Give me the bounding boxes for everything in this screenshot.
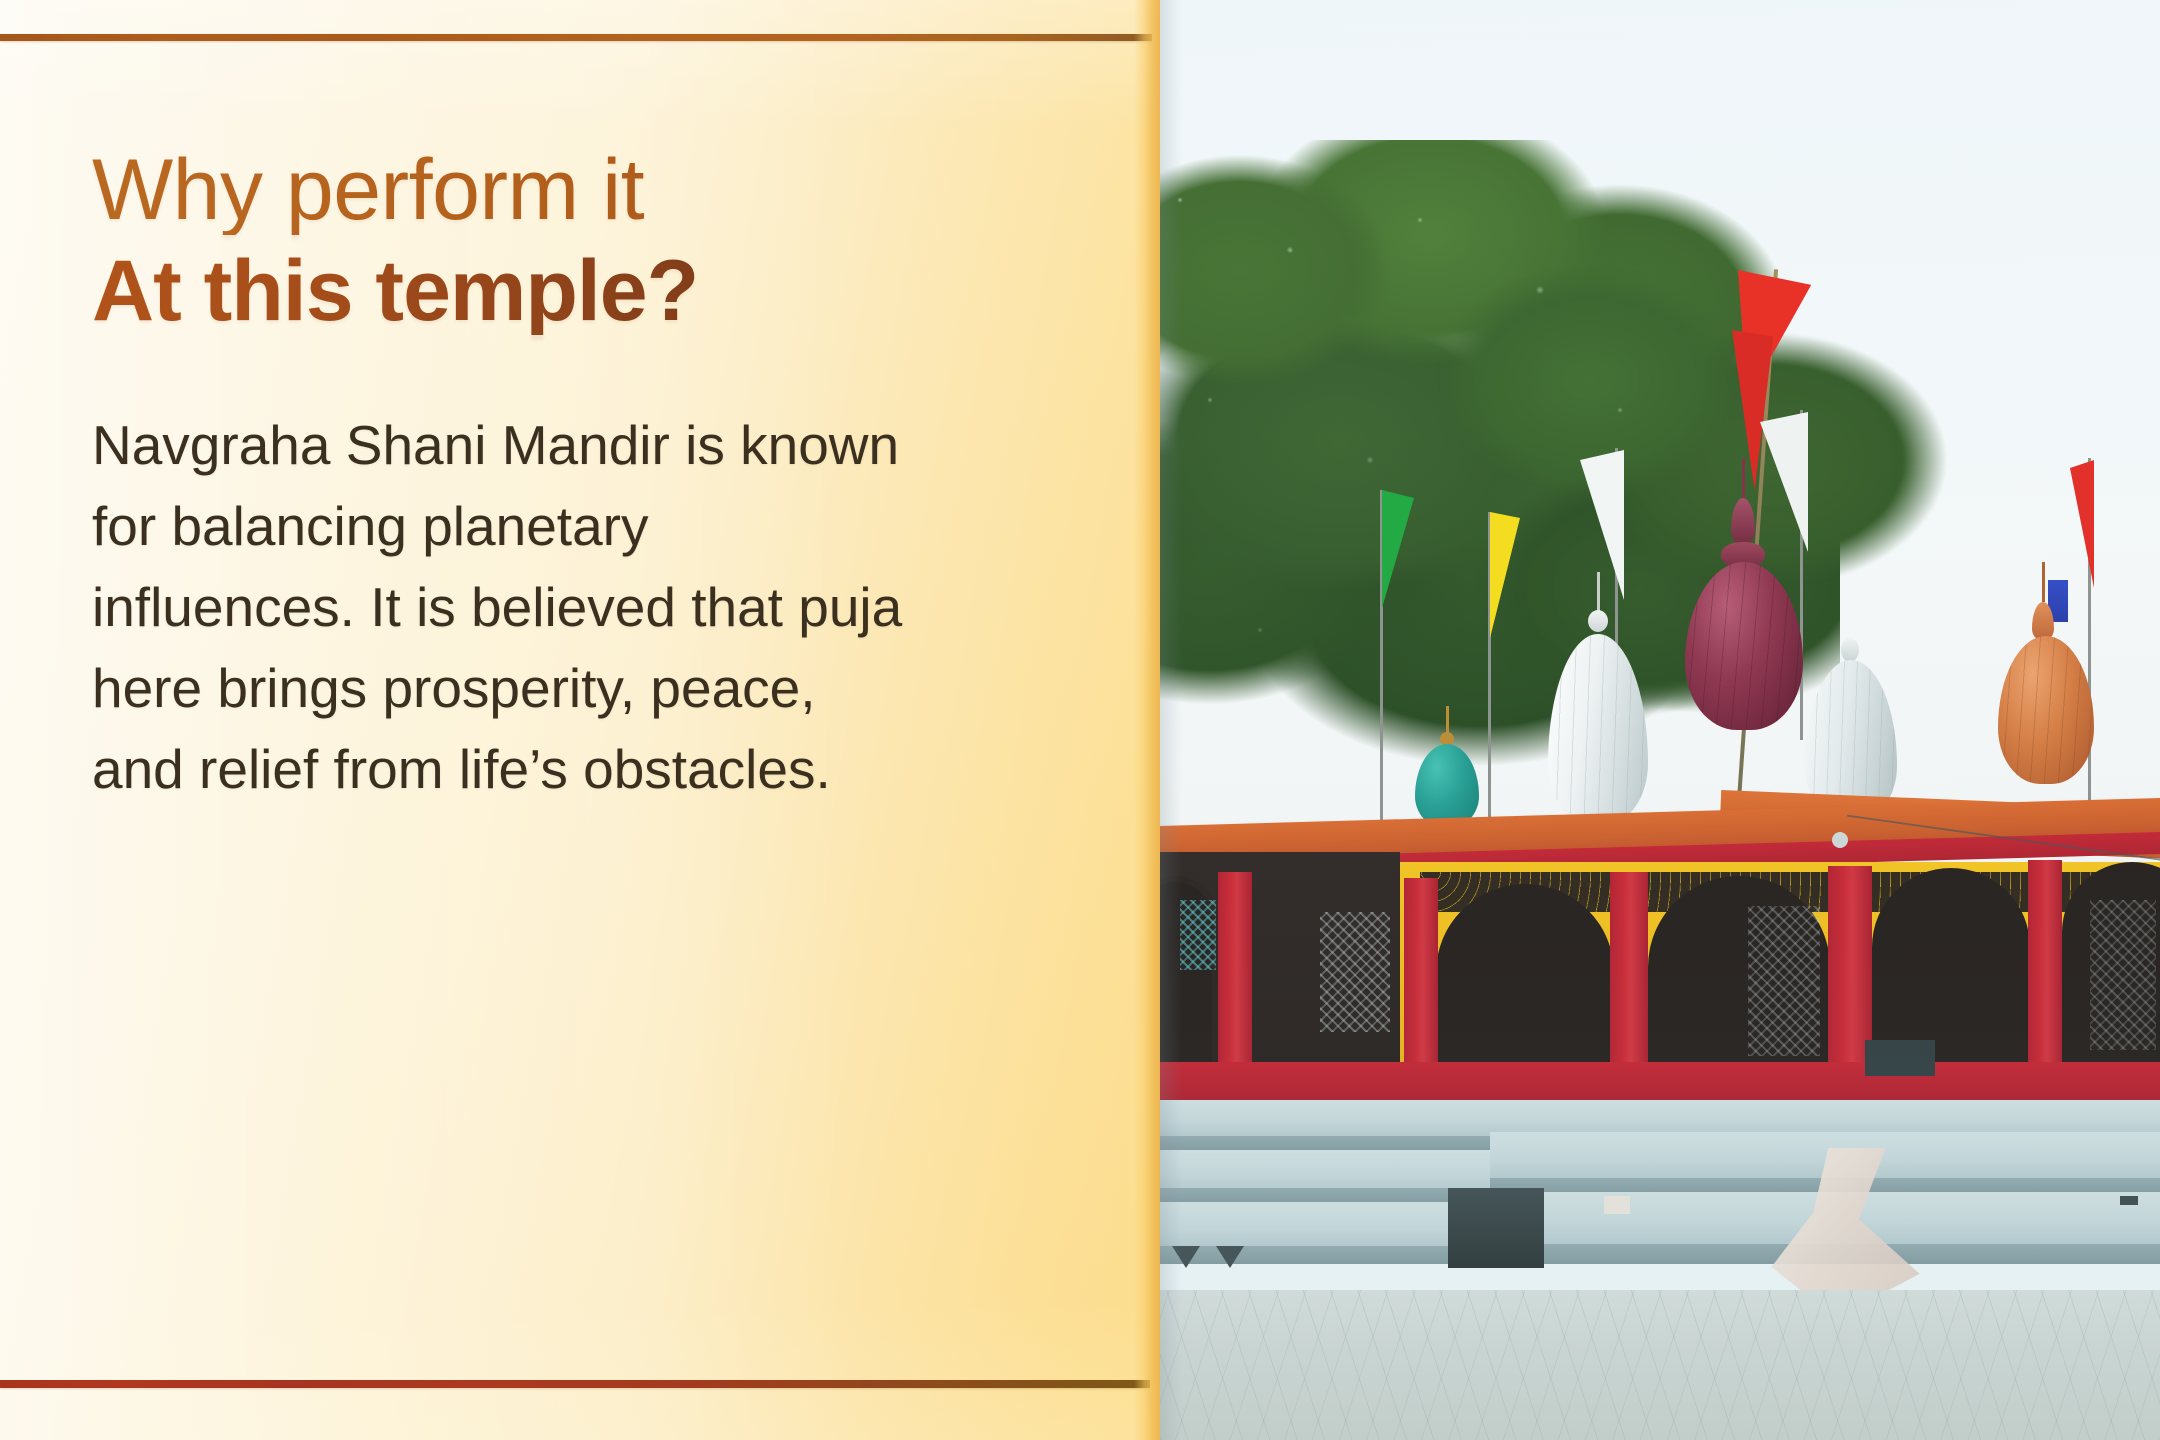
slide: Why perform it At this temple? Navgraha … xyxy=(0,0,2160,1440)
grille-center xyxy=(1320,912,1390,1032)
page-title: Why perform it At this temple? xyxy=(92,146,1092,335)
top-divider-rule xyxy=(0,34,1152,41)
recess-box-1 xyxy=(1448,1188,1544,1268)
grille-right xyxy=(1748,906,1820,1056)
pillar-3 xyxy=(1610,872,1648,1072)
small-debris xyxy=(1604,1196,1630,1214)
grille-left xyxy=(1180,900,1216,970)
white-flag-left xyxy=(1580,450,1624,600)
headline-line-2: At this temple? xyxy=(92,247,1092,336)
wire-insulator xyxy=(1832,832,1848,848)
red-flag-right xyxy=(2070,460,2094,588)
recess-box-2 xyxy=(1865,1040,1935,1076)
white-flag-right xyxy=(1760,412,1808,552)
arch-2 xyxy=(1436,884,1614,1072)
step-3-left xyxy=(1160,1202,1460,1252)
green-flag xyxy=(1382,490,1414,608)
pillar-2 xyxy=(1404,878,1438,1074)
text-block: Why perform it At this temple? Navgraha … xyxy=(92,146,1092,809)
small-debris-2 xyxy=(2120,1196,2138,1205)
white-dome-right-finial xyxy=(1841,638,1859,662)
page-fold-edge xyxy=(1134,0,1160,1440)
white-dome-left-finial xyxy=(1588,610,1608,632)
headline-line-1: Why perform it xyxy=(92,146,1092,235)
text-panel: Why perform it At this temple? Navgraha … xyxy=(0,0,1160,1440)
temple-photo xyxy=(1160,0,2160,1440)
bottom-divider-rule xyxy=(0,1380,1150,1388)
body-paragraph: Navgraha Shani Mandir is known for balan… xyxy=(92,405,922,809)
orange-dome-spike xyxy=(2042,562,2045,602)
paving-texture xyxy=(1160,1290,2160,1440)
step-riser-3-left xyxy=(1160,1246,1460,1264)
yellow-flag xyxy=(1490,512,1520,638)
